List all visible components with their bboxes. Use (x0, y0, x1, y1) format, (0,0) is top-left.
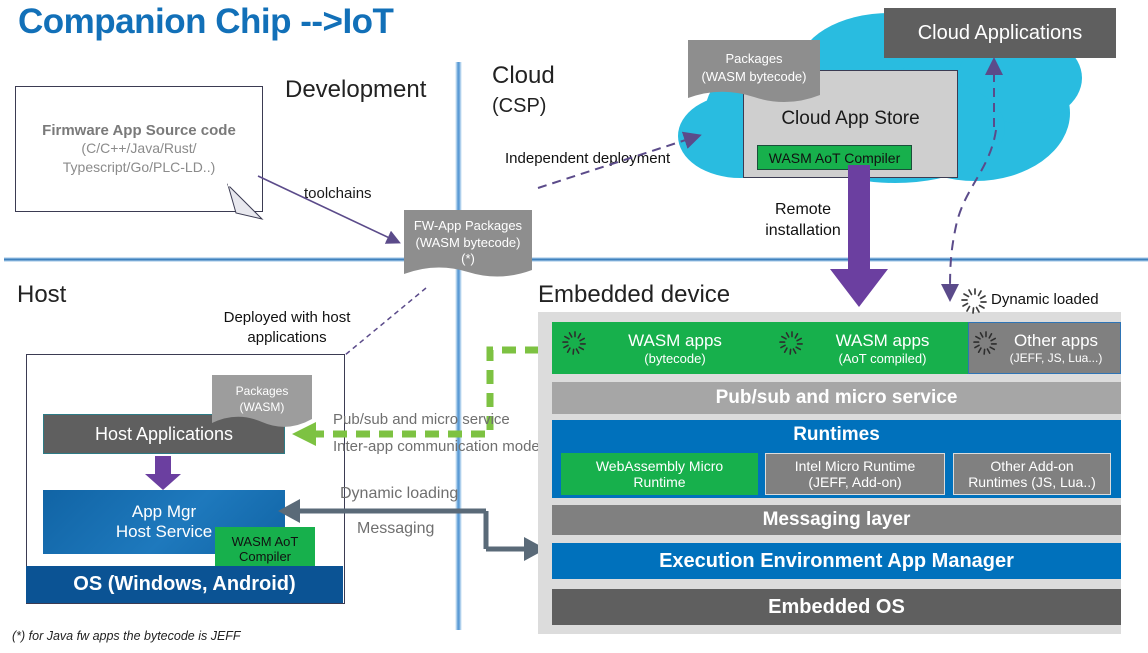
toolchains-label: toolchains (304, 185, 372, 204)
dynamic-loaded-legend-icon (962, 288, 988, 314)
section-heading-development: Development (285, 76, 426, 104)
cloud-apps-up-arrow (980, 55, 1006, 131)
dynamic-loaded-legend-label: Dynamic loaded (991, 291, 1099, 308)
embedded-pubsub-bar: Pub/sub and micro service (552, 382, 1121, 414)
host-apps-to-appmgr-arrow (145, 456, 185, 492)
firmware-source-line1: (C/C++/Java/Rust/ (81, 139, 196, 157)
dynamic-loaded-icon-app-2 (974, 331, 998, 355)
section-heading-host: Host (17, 281, 66, 309)
messaging-label: Messaging (357, 520, 434, 538)
fw-app-packages-line1: FW-App Packages (414, 218, 522, 235)
fw-app-packages-line3: (*) (461, 251, 475, 268)
embedded-app-1-sub: (AoT compiled) (839, 351, 927, 366)
independent-deployment-arrow (538, 132, 710, 194)
host-os-box: OS (Windows, Android) (26, 566, 343, 603)
runtime-0-line2: Runtime (633, 474, 685, 490)
runtime-1-line2: (JEFF, Add-on) (808, 474, 901, 490)
embedded-app-2-labels: Other apps (JEFF, JS, Lua...) (996, 327, 1116, 369)
embedded-exec-env-label: Execution Environment App Manager (659, 550, 1014, 573)
cloud-applications-label: Cloud Applications (918, 22, 1083, 45)
page-title: Companion Chip -->IoT (18, 2, 393, 42)
pubsub-green-arrows (280, 336, 572, 446)
dynamic-loaded-dashed-arrow (920, 130, 1010, 312)
runtime-0-line1: WebAssembly Micro (596, 458, 723, 474)
embedded-os: Embedded OS (552, 589, 1121, 625)
interapp-label: Inter-app communication models (333, 438, 551, 455)
section-heading-cloud: Cloud (492, 62, 555, 90)
section-heading-cloud-sub: (CSP) (492, 95, 546, 118)
embedded-messaging-layer: Messaging layer (552, 505, 1121, 535)
firmware-source-line2: Typescript/Go/PLC-LD..) (63, 158, 216, 176)
firmware-source-code-box: Firmware App Source code (C/C++/Java/Rus… (15, 86, 263, 212)
runtime-0[interactable]: WebAssembly Micro Runtime (561, 453, 758, 495)
dynamic-loaded-icon-app-0 (563, 331, 587, 355)
cloud-packages-callout: Packages (WASM bytecode) (688, 44, 820, 92)
app-mgr-line1: App Mgr (132, 502, 196, 522)
footnote: (*) for Java fw apps the bytecode is JEF… (12, 629, 241, 643)
remote-installation-arrow (830, 165, 892, 311)
fw-app-packages-callout: FW-App Packages (WASM bytecode) (*) (404, 212, 532, 274)
runtime-2-line1: Other Add-on (990, 458, 1073, 474)
host-os-label: OS (Windows, Android) (73, 573, 295, 596)
cloud-packages-line1: Packages (725, 50, 782, 68)
fw-app-packages-line2: (WASM bytecode) (416, 235, 521, 252)
embedded-app-1-name: WASM apps (836, 331, 930, 351)
embedded-app-0-labels: WASM apps (bytecode) (585, 327, 765, 369)
firmware-source-title: Firmware App Source code (42, 122, 236, 139)
slide-canvas: Companion Chip -->IoT Development Cloud … (0, 0, 1148, 653)
embedded-app-0-sub: (bytecode) (644, 351, 705, 366)
dynamic-loading-label: Dynamic loading (340, 485, 458, 503)
runtime-2-line2: Runtimes (JS, Lua..) (968, 474, 1096, 490)
section-heading-embedded: Embedded device (538, 281, 730, 309)
embedded-runtimes-title: Runtimes (552, 421, 1121, 449)
embedded-pubsub-label: Pub/sub and micro service (716, 387, 958, 409)
cloud-applications-box: Cloud Applications (884, 8, 1116, 58)
host-packages-line2: (WASM) (240, 399, 285, 415)
embedded-app-2-name: Other apps (1014, 331, 1098, 351)
embedded-messaging-layer-label: Messaging layer (763, 509, 911, 531)
pubsub-host-label: Pub/sub and micro service (333, 411, 510, 428)
embedded-app-1-labels: WASM apps (AoT compiled) (800, 327, 965, 369)
embedded-os-label: Embedded OS (768, 596, 905, 619)
remote-installation-line1: Remote (775, 200, 831, 221)
cloud-packages-line2: (WASM bytecode) (702, 68, 807, 86)
runtime-2[interactable]: Other Add-on Runtimes (JS, Lua..) (953, 453, 1111, 495)
embedded-app-2-sub: (JEFF, JS, Lua...) (1010, 351, 1103, 365)
embedded-app-0-name: WASM apps (628, 331, 722, 351)
runtime-1[interactable]: Intel Micro Runtime (JEFF, Add-on) (765, 453, 945, 495)
embedded-exec-env: Execution Environment App Manager (552, 543, 1121, 579)
app-mgr-line2: Host Service (116, 522, 212, 542)
wasm-aot-compiler-cloud-label: WASM AoT Compiler (769, 150, 900, 166)
runtime-1-line1: Intel Micro Runtime (795, 458, 916, 474)
